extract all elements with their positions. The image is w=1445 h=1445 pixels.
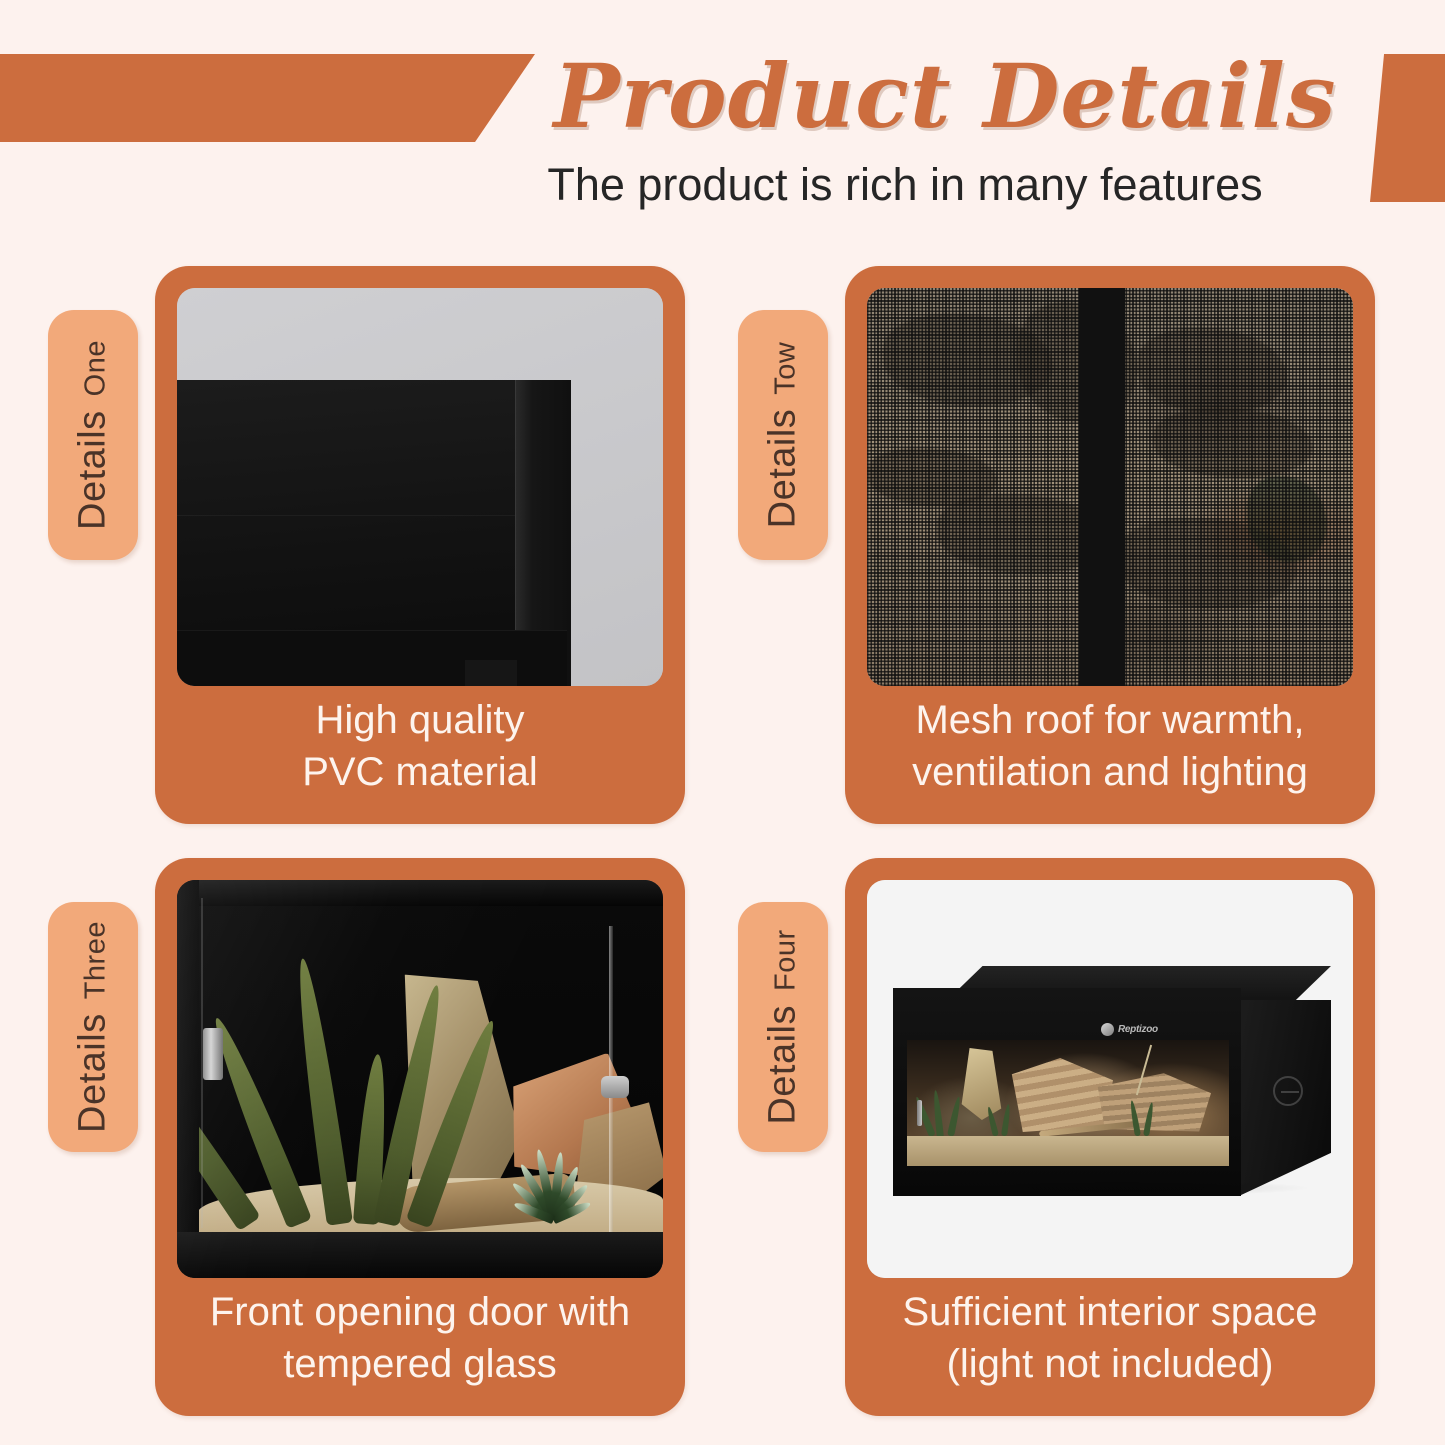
enclosure-rock-layered [1003, 1058, 1113, 1132]
detail-cell-one: Details One High quality PVC material [40, 250, 740, 840]
enclosure-door-handle[interactable] [917, 1100, 922, 1126]
detail-card-four-caption: Sufficient interior space (light not inc… [857, 1286, 1363, 1406]
detail-card-one: High quality PVC material [155, 266, 685, 824]
detail-tab-three: Details Three [48, 902, 138, 1152]
detail-card-three-caption: Front opening door with tempered glass [167, 1286, 673, 1406]
caption-line: (light not included) [947, 1338, 1274, 1390]
detail-tab-four-main: Details [762, 1005, 805, 1125]
caption-line: Mesh roof for warmth, [915, 694, 1304, 746]
detail-tab-two-inner: Details Tow [762, 342, 805, 529]
enclosure-plant-leaf [1001, 1104, 1011, 1137]
side-vent-icon [1273, 1076, 1303, 1106]
enclosure-front-frame: Reptizoo [893, 988, 1241, 1196]
page-header: Product Details The product is rich in m… [0, 0, 1445, 230]
caption-line: Front opening door with [210, 1286, 630, 1338]
detail-card-three: Front opening door with tempered glass [155, 858, 685, 1416]
front-glass-door-interior-image [177, 880, 663, 1278]
enclosure-glass-window [907, 1040, 1229, 1166]
detail-tab-two-sub: Tow [770, 342, 803, 395]
detail-tab-three-inner: Details Three [72, 921, 115, 1133]
page-title: Product Details [520, 44, 1370, 148]
detail-tab-four-sub: Four [770, 929, 803, 991]
detail-card-two-caption: Mesh roof for warmth, ventilation and li… [857, 694, 1363, 814]
full-terrarium-enclosure-image: Reptizoo [867, 880, 1353, 1278]
detail-card-four: Reptizoo Sufficient interior space (ligh… [845, 858, 1375, 1416]
door-left-frame [177, 880, 199, 1278]
detail-tab-one-main: Details [72, 410, 115, 530]
product-details-page: Product Details The product is rich in m… [0, 0, 1445, 1445]
detail-card-one-caption: High quality PVC material [167, 694, 673, 814]
terrarium-enclosure: Reptizoo [891, 966, 1331, 1196]
caption-line: ventilation and lighting [912, 746, 1308, 798]
header-accent-bar-right [1370, 54, 1445, 202]
detail-tab-one-sub: One [80, 340, 113, 396]
haworthia-succulent [507, 1124, 597, 1220]
enclosure-rock-tall [959, 1048, 1003, 1120]
brand-logo: Reptizoo [1101, 1022, 1173, 1037]
product-drop-shadow [927, 1180, 1307, 1196]
brand-logo-text: Reptizoo [1118, 1024, 1158, 1035]
enclosure-sand-substrate [907, 1136, 1229, 1166]
detail-tab-three-sub: Three [80, 921, 113, 999]
mesh-roof-closeup-image [867, 288, 1353, 686]
detail-tab-three-main: Details [72, 1013, 115, 1133]
door-bottom-frame [177, 1232, 663, 1278]
pvc-panel-closeup-image [177, 288, 663, 686]
detail-tab-one: Details One [48, 310, 138, 560]
detail-cell-three: Details Three [40, 842, 740, 1432]
detail-cell-four: Details Four [730, 842, 1430, 1432]
caption-line: Sufficient interior space [902, 1286, 1317, 1338]
detail-tab-one-inner: Details One [72, 340, 115, 530]
door-top-frame [177, 880, 663, 906]
detail-tab-four: Details Four [738, 902, 828, 1152]
detail-cell-two: Details Tow [730, 250, 1430, 840]
detail-tab-two-main: Details [762, 409, 805, 529]
terrarium-rod-clamp [601, 1076, 629, 1098]
details-grid: Details One High quality PVC material [0, 238, 1445, 1445]
pvc-panel-foot [465, 660, 517, 686]
caption-line: tempered glass [283, 1338, 556, 1390]
mesh-divider-bar [1079, 288, 1125, 686]
detail-tab-four-inner: Details Four [762, 929, 805, 1124]
detail-tab-two: Details Tow [738, 310, 828, 560]
header-accent-bar-left [0, 54, 535, 142]
detail-card-two: Mesh roof for warmth, ventilation and li… [845, 266, 1375, 824]
brand-logo-mark [1101, 1023, 1114, 1036]
enclosure-plant-leaf [947, 1096, 962, 1137]
door-handle[interactable] [203, 1028, 223, 1080]
caption-line: PVC material [302, 746, 538, 798]
caption-line: High quality [315, 694, 524, 746]
page-subtitle: The product is rich in many features [430, 158, 1380, 212]
